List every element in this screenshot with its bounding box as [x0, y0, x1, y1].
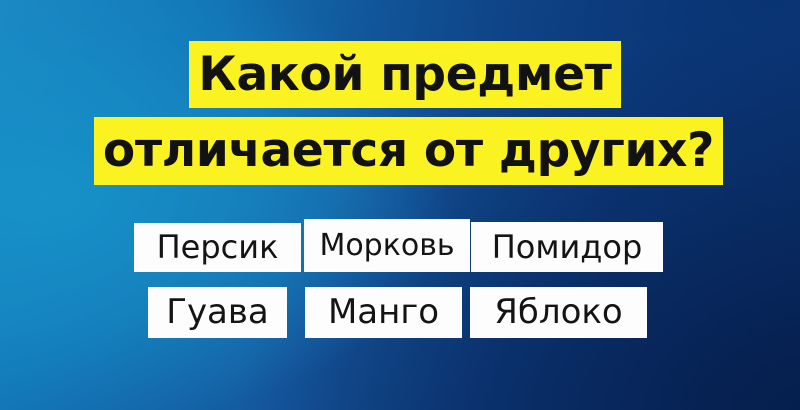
answer-option-guava[interactable]: Гуава — [148, 287, 287, 338]
answer-option-peach[interactable]: Персик — [134, 223, 301, 272]
answer-option-carrot[interactable]: Морковь — [304, 219, 470, 272]
answer-option-mango[interactable]: Манго — [305, 287, 462, 338]
answer-option-tomato[interactable]: Помидор — [471, 222, 663, 272]
quiz-card: Какой предмет отличается от других? Перс… — [0, 0, 800, 410]
answer-option-apple[interactable]: Яблоко — [470, 287, 647, 338]
answer-options-list: Персик Морковь Помидор Гуава Манго Яблок… — [0, 0, 800, 410]
